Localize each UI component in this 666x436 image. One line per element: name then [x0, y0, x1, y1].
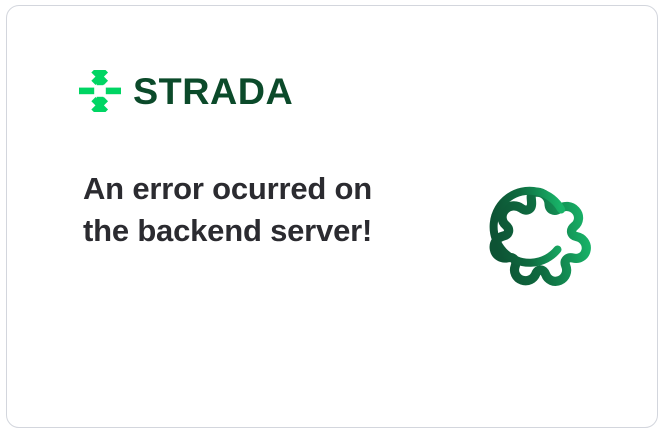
strada-asterisk-mark-icon — [79, 70, 121, 112]
error-card: STRADA An error ocurred on the backend s… — [6, 5, 658, 428]
error-headline: An error ocurred on the backend server! — [83, 168, 383, 252]
brand-wordmark: STRADA — [133, 73, 293, 110]
error-page: STRADA An error ocurred on the backend s… — [0, 0, 666, 436]
gear-outer-ring — [494, 192, 586, 281]
brand-lockup: STRADA — [79, 70, 290, 112]
